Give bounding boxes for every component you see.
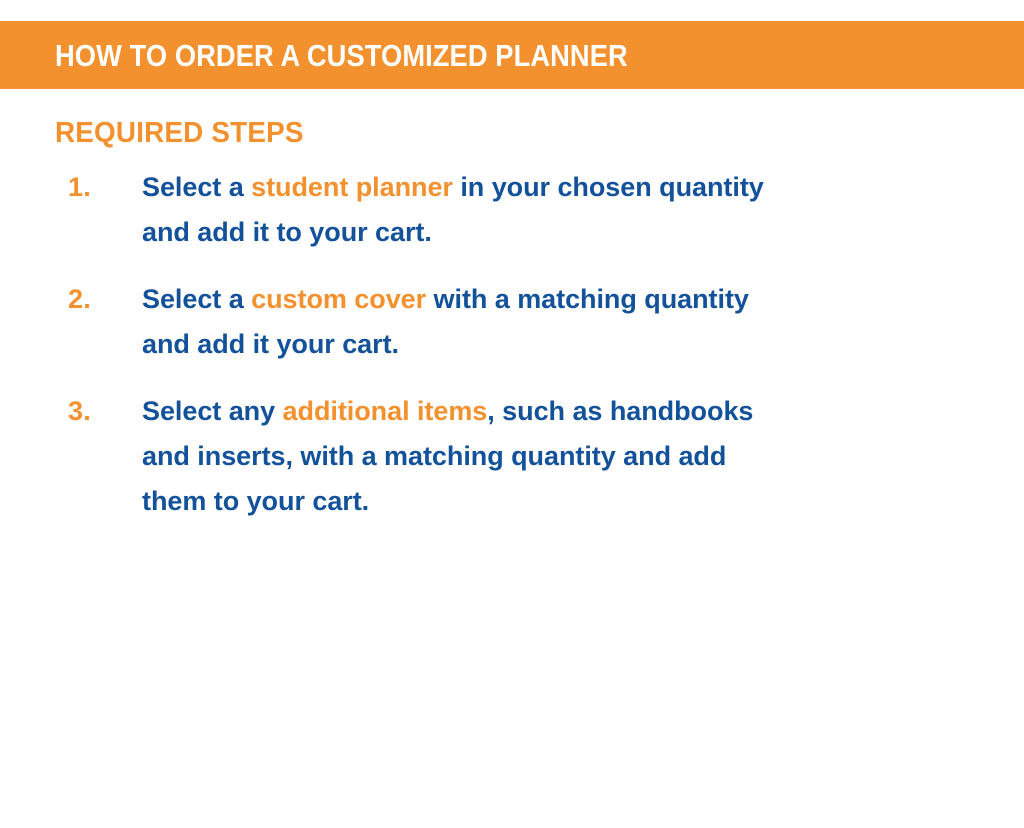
highlighted-phrase: custom cover	[251, 284, 426, 314]
step-text-segment: Select any	[142, 396, 283, 426]
highlighted-phrase: student planner	[251, 172, 453, 202]
step-text-segment: Select a	[142, 172, 251, 202]
highlighted-phrase: additional items	[283, 396, 488, 426]
list-item: 2.Select a custom cover with a matching …	[0, 277, 1024, 367]
step-text: Select a custom cover with a matching qu…	[142, 277, 942, 367]
header-banner: HOW TO ORDER A CUSTOMIZED PLANNER	[0, 21, 1024, 89]
step-number: 3.	[68, 389, 142, 434]
step-text: Select a student planner in your chosen …	[142, 165, 942, 255]
content-area: REQUIRED STEPS 1.Select a student planne…	[0, 89, 1024, 828]
page-root: HOW TO ORDER A CUSTOMIZED PLANNER REQUIR…	[0, 0, 1024, 828]
required-steps-list: 1.Select a student planner in your chose…	[0, 165, 1024, 524]
page-title: HOW TO ORDER A CUSTOMIZED PLANNER	[55, 40, 628, 71]
list-item: 1.Select a student planner in your chose…	[0, 165, 1024, 255]
step-number: 2.	[68, 277, 142, 322]
step-text: Select any additional items, such as han…	[142, 389, 942, 524]
list-item: 3.Select any additional items, such as h…	[0, 389, 1024, 524]
step-number: 1.	[68, 165, 142, 210]
step-text-segment: Select a	[142, 284, 251, 314]
section-heading-required-steps: REQUIRED STEPS	[55, 119, 304, 148]
